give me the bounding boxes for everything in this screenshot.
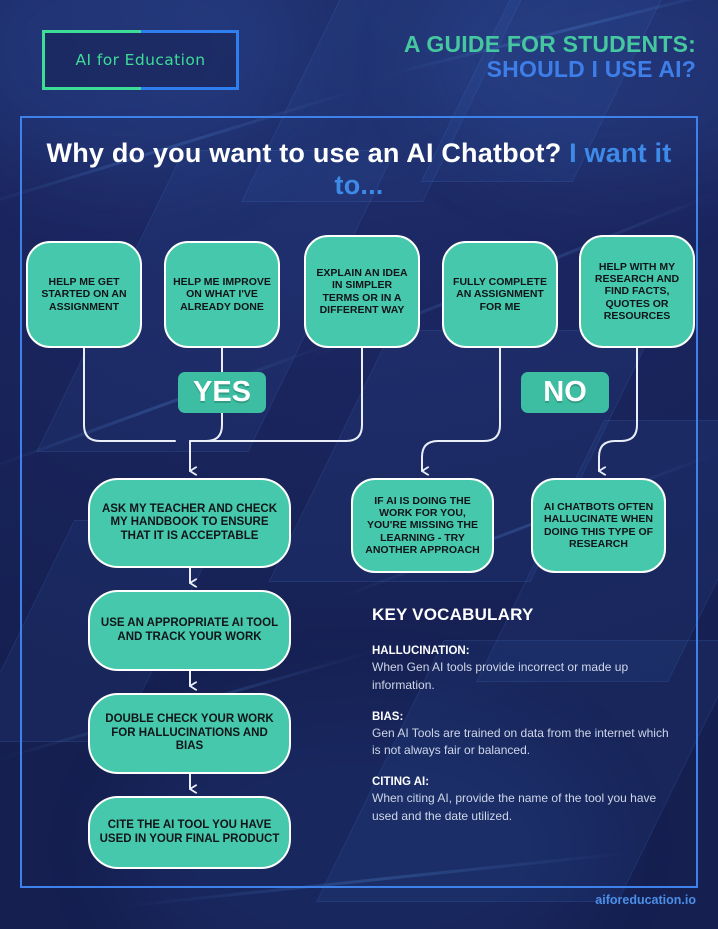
result-node-research-label: AI CHATBOTS OFTEN HALLUCINATE WHEN DOING…	[540, 501, 657, 550]
header-title-line1: A GUIDE FOR STUDENTS:	[404, 32, 696, 57]
logo-border-top-blue	[141, 30, 240, 33]
footer-website[interactable]: aiforeducation.io	[595, 893, 696, 907]
logo-border-top-green	[42, 30, 141, 33]
badge-yes: YES	[178, 372, 266, 413]
option-node-start[interactable]: HELP ME GET STARTED ON AN ASSIGNMENT	[26, 241, 142, 348]
option-node-improve[interactable]: HELP ME IMPROVE ON WHAT I'VE ALREADY DON…	[164, 241, 280, 348]
logo-border-left	[42, 30, 45, 90]
vocabulary-term-bias: BIAS:	[372, 711, 672, 723]
vocabulary-definition-citing-ai: When citing AI, provide the name of the …	[372, 790, 672, 826]
badge-no-label: NO	[543, 376, 587, 409]
vocabulary-definition-bias: Gen AI Tools are trained on data from th…	[372, 725, 672, 761]
vocabulary-heading: KEY VOCABULARY	[372, 605, 672, 625]
logo-text: AI for Education	[76, 51, 206, 69]
vocabulary-term-hallucination: HALLUCINATION:	[372, 645, 672, 657]
logo-border-right	[236, 30, 239, 90]
step-node-use-label: USE AN APPROPRIATE AI TOOL AND TRACK YOU…	[97, 617, 282, 644]
logo: AI for Education	[42, 30, 239, 90]
badge-no: NO	[521, 372, 609, 413]
step-node-cite[interactable]: CITE THE AI TOOL YOU HAVE USED IN YOUR F…	[88, 796, 291, 869]
header-title-line2: SHOULD I USE AI?	[404, 57, 696, 82]
option-node-complete-label: FULLY COMPLETE AN ASSIGNMENT FOR ME	[451, 276, 549, 313]
option-node-research[interactable]: HELP WITH MY RESEARCH AND FIND FACTS, QU…	[579, 235, 695, 348]
logo-border-bottom-green	[42, 87, 141, 90]
page-title: Why do you want to use an AI Chatbot? I …	[20, 138, 698, 202]
option-node-explain[interactable]: EXPLAIN AN IDEA IN SIMPLER TERMS OR IN A…	[304, 235, 420, 348]
page-header: AI for Education A GUIDE FOR STUDENTS: S…	[0, 0, 718, 110]
vocabulary-term-citing-ai: CITING AI:	[372, 776, 672, 788]
option-node-complete[interactable]: FULLY COMPLETE AN ASSIGNMENT FOR ME	[442, 241, 558, 348]
step-node-check[interactable]: DOUBLE CHECK YOUR WORK FOR HALLUCINATION…	[88, 693, 291, 774]
option-node-research-label: HELP WITH MY RESEARCH AND FIND FACTS, QU…	[588, 261, 686, 322]
result-node-learning-label: IF AI IS DOING THE WORK FOR YOU, YOU'RE …	[360, 495, 485, 556]
step-node-ask[interactable]: ASK MY TEACHER AND CHECK MY HANDBOOK TO …	[88, 478, 291, 568]
step-node-ask-label: ASK MY TEACHER AND CHECK MY HANDBOOK TO …	[97, 503, 282, 543]
option-node-start-label: HELP ME GET STARTED ON AN ASSIGNMENT	[35, 276, 133, 313]
page-title-question: Why do you want to use an AI Chatbot?	[47, 138, 562, 168]
step-node-check-label: DOUBLE CHECK YOUR WORK FOR HALLUCINATION…	[97, 713, 282, 753]
step-node-cite-label: CITE THE AI TOOL YOU HAVE USED IN YOUR F…	[97, 819, 282, 846]
key-vocabulary-section: KEY VOCABULARY HALLUCINATION: When Gen A…	[372, 605, 672, 826]
step-node-use[interactable]: USE AN APPROPRIATE AI TOOL AND TRACK YOU…	[88, 590, 291, 671]
logo-border-bottom-blue	[141, 87, 240, 90]
option-node-improve-label: HELP ME IMPROVE ON WHAT I'VE ALREADY DON…	[173, 276, 271, 313]
header-title: A GUIDE FOR STUDENTS: SHOULD I USE AI?	[404, 32, 696, 82]
result-node-research[interactable]: AI CHATBOTS OFTEN HALLUCINATE WHEN DOING…	[531, 478, 666, 573]
result-node-learning[interactable]: IF AI IS DOING THE WORK FOR YOU, YOU'RE …	[351, 478, 494, 573]
vocabulary-definition-hallucination: When Gen AI tools provide incorrect or m…	[372, 659, 672, 695]
option-node-explain-label: EXPLAIN AN IDEA IN SIMPLER TERMS OR IN A…	[313, 267, 411, 316]
badge-yes-label: YES	[193, 376, 251, 409]
